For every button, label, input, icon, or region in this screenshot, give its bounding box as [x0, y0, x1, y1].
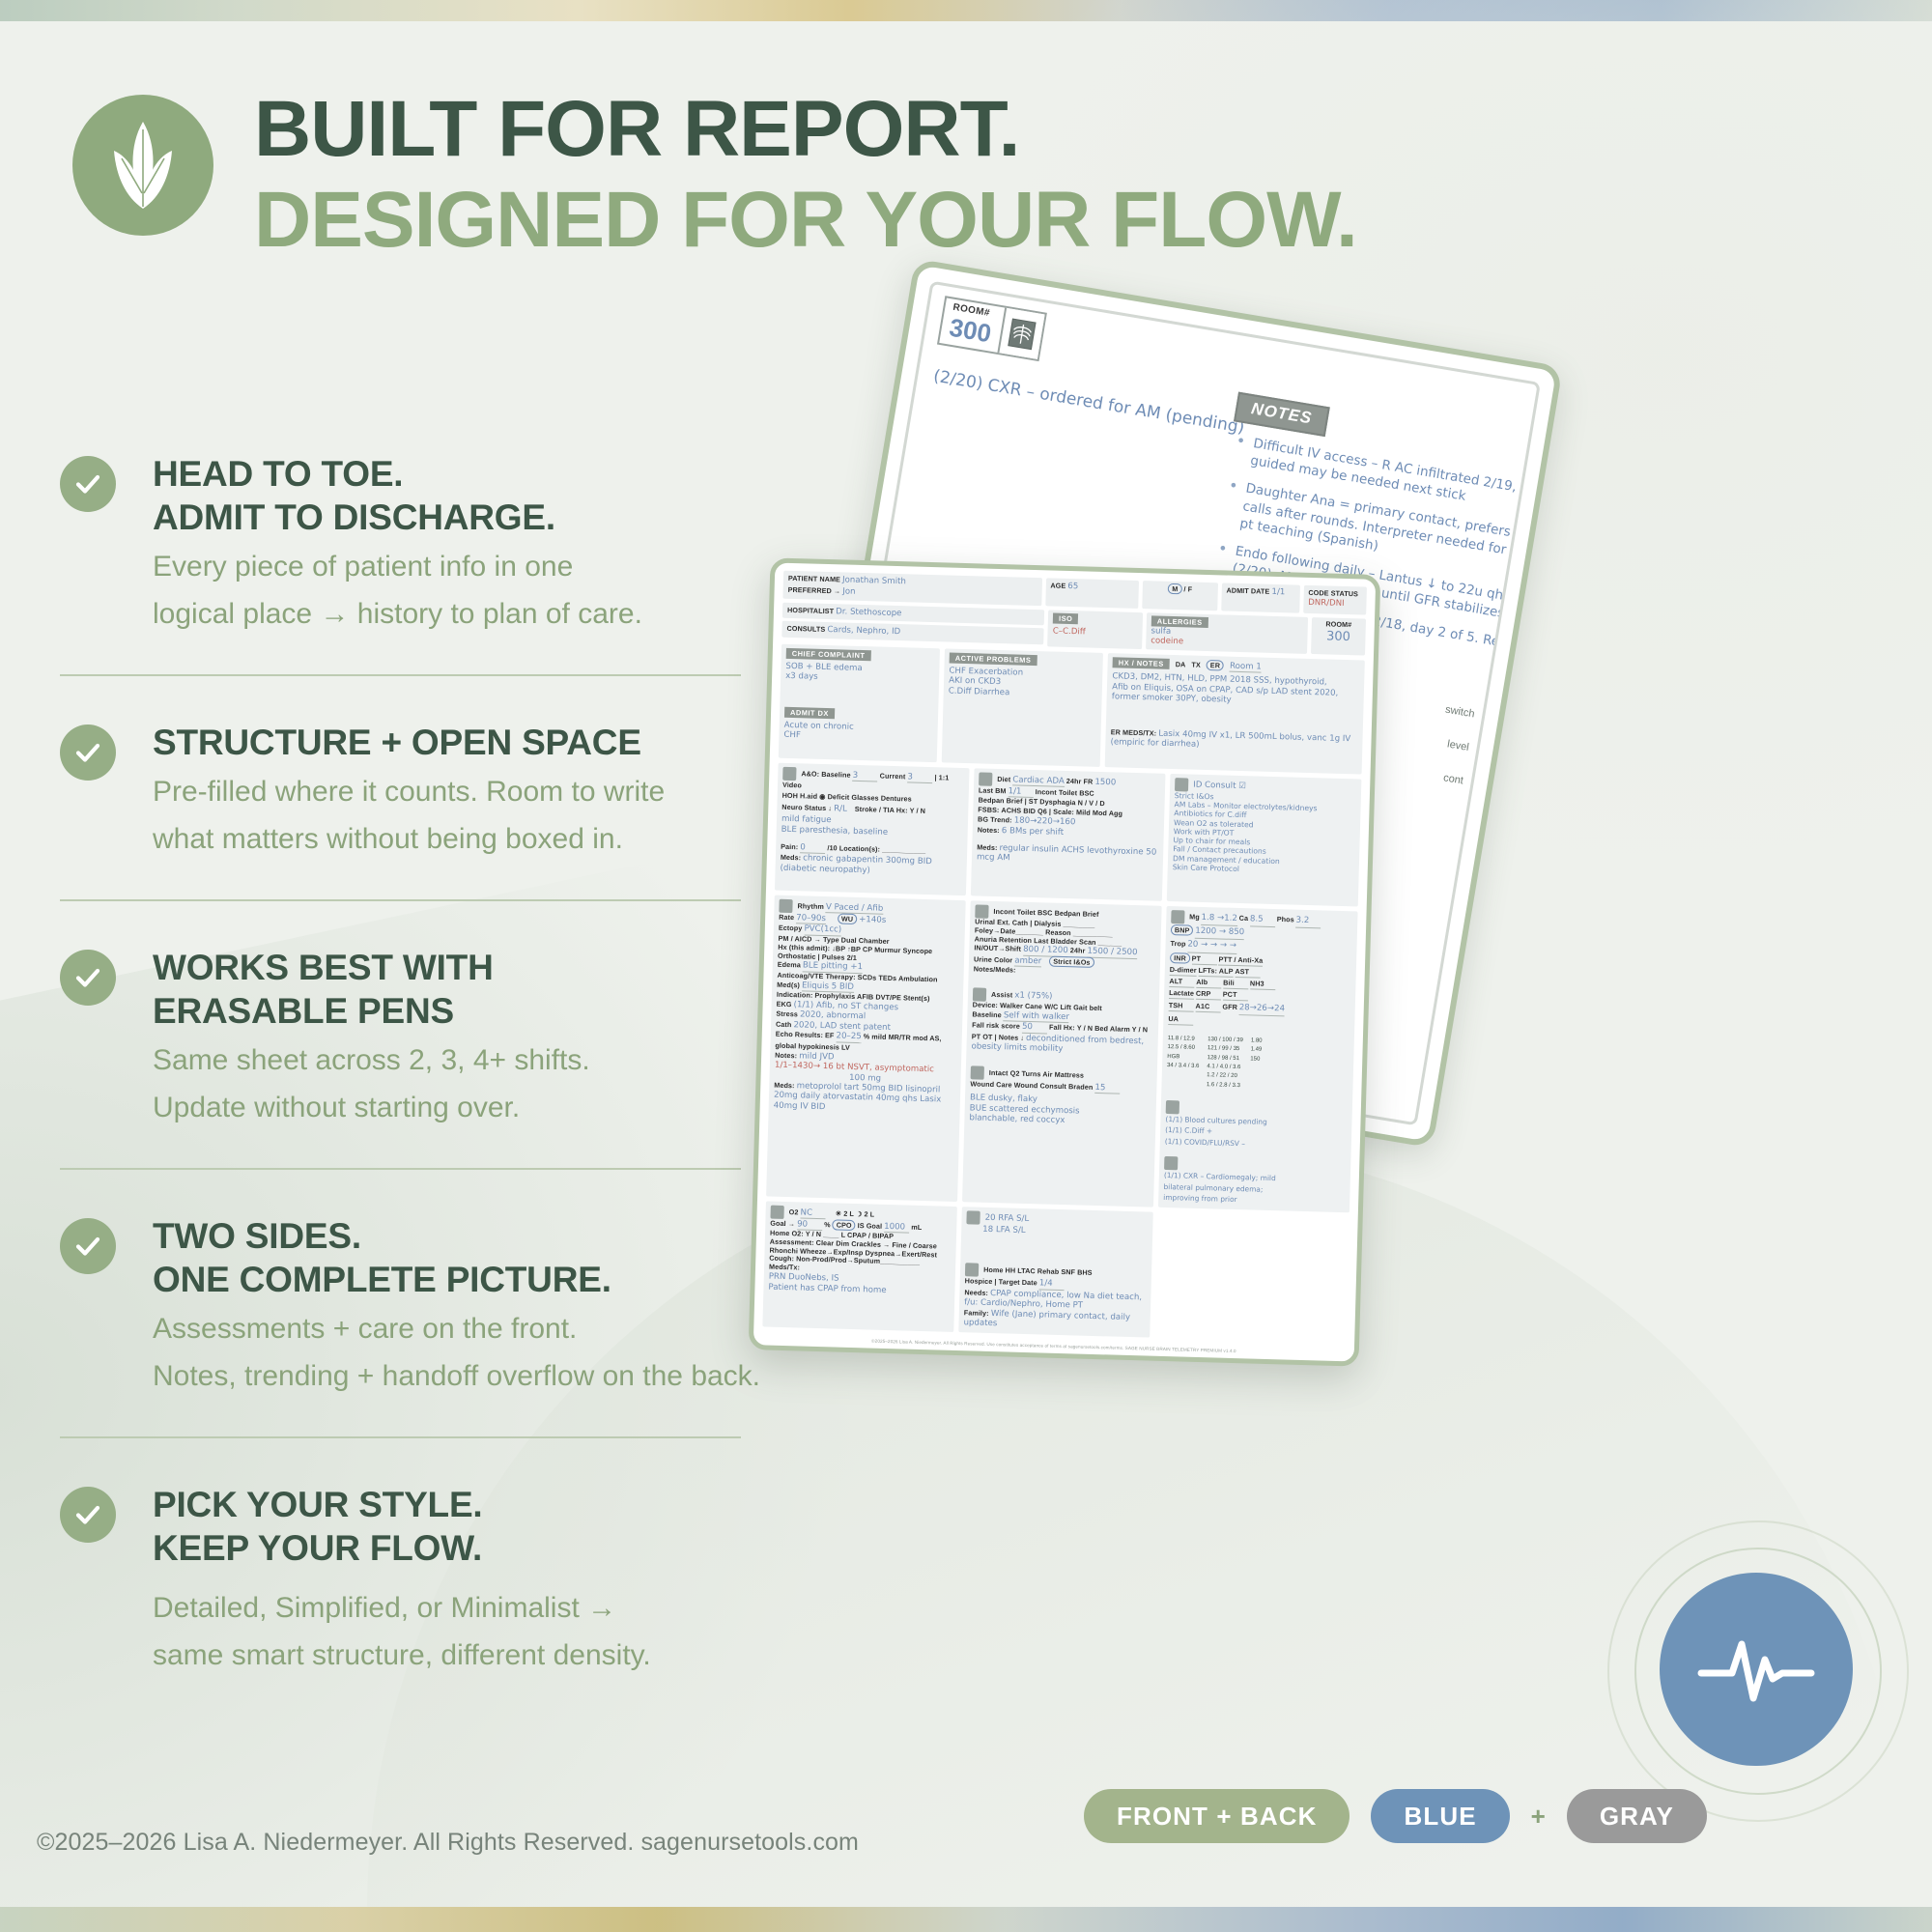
allergies-cell[interactable]: ALLERGIES sulfa codeine: [1146, 612, 1308, 654]
fall-risk-value[interactable]: 50: [1022, 1022, 1047, 1034]
feature-divider: [60, 674, 741, 676]
bottom-gradient-band: [0, 1907, 1932, 1932]
dispo-needs-label: Needs:: [964, 1288, 988, 1297]
inout-24-value[interactable]: 1500 / 2500: [1087, 947, 1137, 959]
cardiac-meds-label: Med(s): [777, 980, 800, 989]
ekg-label: EKG: [777, 1000, 792, 1009]
sex-options: / F: [1183, 584, 1192, 593]
flask-icon: [1171, 910, 1184, 923]
rate-value[interactable]: 70–90s: [796, 913, 826, 924]
feature-divider: [60, 1436, 741, 1438]
hospice-label[interactable]: Hospice | Target Date: [965, 1276, 1037, 1287]
fr-value: 1500: [1094, 778, 1116, 788]
wu-value: +140s: [859, 915, 886, 925]
tsh-label[interactable]: TSH: [1169, 1000, 1194, 1012]
labs-panel[interactable]: Mg 1.8 →1.2 Ca 8.5 Phos 3.2 BNP 1200 → 8…: [1158, 906, 1358, 1212]
patient-name-value: Jonathan Smith: [842, 575, 906, 586]
plan-of-care-panel[interactable]: ID Consult ☑ Strict I&Os AM Labs – Monit…: [1167, 774, 1362, 906]
admit-dx-label: ADMIT DX: [784, 707, 835, 719]
incont-options[interactable]: Incont Toilet BSC: [1036, 787, 1094, 798]
echo-label: Echo Results: EF: [776, 1030, 835, 1040]
pt-ot-line[interactable]: PT OT | Notes ↓: [972, 1032, 1024, 1042]
pain-scale-label: /10 Location(s): ___________: [827, 843, 925, 855]
back-sheet-right-labels: switch level cont: [1432, 694, 1478, 799]
dispo-needs-value: CPAP compliance, low Na diet teach, f/u:…: [964, 1289, 1142, 1311]
notes-title: NOTES: [1234, 392, 1329, 437]
skin-icon: [971, 1065, 984, 1079]
consults-label: CONSULTS: [786, 624, 825, 634]
problems-history-row: CHIEF COMPLAINT SOB + BLE edema x3 days …: [779, 644, 1365, 775]
feature-title-line1: PICK YOUR STYLE.: [153, 1483, 929, 1526]
code-status-label: CODE STATUS: [1308, 588, 1358, 598]
feature-title-line1: HEAD TO TOE.: [153, 452, 929, 496]
alb-label[interactable]: Alb: [1196, 977, 1221, 989]
assessment-row-2: Rhythm V Paced / Afib Rate 70–90s WU +14…: [766, 895, 1357, 1212]
iv-lines-panel[interactable]: 20 RFA S/L 18 LFA S/L Home HH LTAC Rehab…: [958, 1207, 1153, 1337]
rate-label: Rate: [779, 913, 794, 922]
sex-cell[interactable]: M / F: [1142, 581, 1218, 611]
fishbone-right-2: 1.49: [1250, 1046, 1262, 1056]
diet-value[interactable]: Cardiac ADA: [1012, 775, 1065, 787]
urine-color-value[interactable]: amber: [1014, 955, 1041, 967]
page-title-line2: DESIGNED FOR YOUR FLOW.: [254, 180, 1357, 261]
feature-divider: [60, 1168, 741, 1170]
rhythm-label: Rhythm: [797, 901, 824, 911]
fall-risk-label: Fall risk score: [972, 1021, 1020, 1031]
active-problems-label: ACTIVE PROBLEMS: [950, 653, 1037, 667]
stress-label: Stress: [776, 1009, 798, 1019]
ast-label[interactable]: AST: [1235, 966, 1260, 979]
cardiac-panel[interactable]: Rhythm V Paced / Afib Rate 70–90s WU +14…: [766, 895, 966, 1202]
fishbone-center: 130 / 100 / 39 121 / 99 / 35 128 / 98 / …: [1207, 1036, 1243, 1091]
feature-item-pick-your-style: PICK YOUR STYLE. KEEP YOUR FLOW. Detaile…: [60, 1483, 929, 1675]
code-status-cell[interactable]: CODE STATUS DNR/DNI: [1303, 585, 1367, 615]
iso-label: ISO: [1053, 613, 1079, 625]
cardiac-meds2-value: metoprolol tart 50mg BID lisinopril 20mg…: [774, 1081, 942, 1112]
hx-chip-da[interactable]: DA: [1176, 660, 1186, 668]
neuro-status-label: Neuro Status ↓: [781, 802, 832, 811]
skin-status[interactable]: Intact Q2 Turns Air Mattress: [989, 1068, 1084, 1080]
patient-name-cell[interactable]: PATIENT NAME Jonathan Smith PREFERRED → …: [782, 571, 1041, 606]
chief-complaint-panel[interactable]: CHIEF COMPLAINT SOB + BLE edema x3 days …: [779, 644, 940, 763]
lfts-label[interactable]: LFTs: ALP: [1198, 965, 1233, 978]
mg-label: Mg: [1189, 912, 1200, 921]
trop-label: Trop: [1170, 939, 1185, 948]
age-value: 65: [1067, 582, 1078, 591]
iv-line-1: 20 RFA S/L: [985, 1212, 1030, 1223]
hx-notes-label: HX / NOTES: [1113, 657, 1170, 669]
phos-label: Phos: [1277, 915, 1294, 923]
bili-label[interactable]: Bili: [1223, 978, 1248, 990]
pill-blue[interactable]: BLUE: [1371, 1789, 1509, 1843]
gi-meds-label: Meds:: [977, 842, 998, 852]
admit-date-value: 1/1: [1271, 587, 1285, 597]
home-icon: [965, 1263, 979, 1276]
bnp-label: BNP: [1171, 924, 1194, 936]
pill-plus-separator: +: [1531, 1802, 1546, 1832]
microscope-icon: [1166, 1100, 1179, 1114]
fishbone-right-3: 150: [1250, 1055, 1262, 1065]
fishbone-right: 1.80 1.49 150: [1249, 1037, 1262, 1091]
hospitalist-consults-group: HOSPITALIST Dr. Stethoscope CONSULTS Car…: [781, 603, 1044, 647]
room-number: 300: [948, 315, 993, 347]
neuro-meds-label: Meds:: [781, 853, 802, 863]
active-problems-panel[interactable]: ACTIVE PROBLEMS CHF Exacerbation AKI on …: [942, 648, 1103, 767]
mobility-baseline-label: Baseline: [972, 1009, 1002, 1019]
clipboard-icon: [1175, 778, 1188, 791]
iv-icon: [966, 1210, 980, 1224]
heart-icon: [779, 899, 792, 913]
fsbs-label: FSBS:: [978, 806, 999, 815]
feature-divider: [60, 899, 741, 901]
bnp-value[interactable]: 1200 → 850: [1195, 925, 1244, 941]
gu-line-1[interactable]: Incont Toilet BSC Bedpan Brief: [993, 907, 1098, 919]
neuro-meds-value: chronic gabapentin 300mg BID (diabetic n…: [780, 854, 931, 875]
ua-label[interactable]: UA: [1168, 1013, 1193, 1026]
consults-cell[interactable]: CONSULTS Cards, Nephro, ID: [781, 621, 1044, 644]
edema-label: Edema: [778, 960, 801, 970]
ca-label: Ca: [1239, 914, 1249, 923]
fishbone-chem-mid: 121 / 99 / 35: [1207, 1045, 1243, 1055]
ao-current-label: Current: [880, 772, 906, 781]
heartbeat-pulse-icon: [1660, 1573, 1853, 1766]
gfr-label: GFR: [1222, 1002, 1237, 1010]
xray-film-icon: [1164, 1156, 1178, 1170]
sex-selected: M: [1168, 583, 1181, 594]
ca-value[interactable]: 8.5: [1250, 913, 1275, 927]
neuro-rl: R/L: [834, 804, 847, 813]
preferred-name-label: PREFERRED →: [788, 585, 841, 596]
hx-chip-tx[interactable]: TX: [1191, 661, 1201, 669]
nh3-label[interactable]: NH3: [1250, 978, 1275, 990]
neuro-panel[interactable]: A&O: Baseline 3 Current 3 | 1:1 Video HO…: [775, 763, 970, 895]
fishbone-values-2: 1.2 / 22 / 20: [1207, 1071, 1242, 1081]
last-bm-label: Last BM: [979, 785, 1007, 795]
room-cell[interactable]: ROOM# 300: [1311, 617, 1366, 656]
feature-title-line2: KEEP YOUR FLOW.: [153, 1526, 929, 1570]
pt-label[interactable]: PT: [1192, 952, 1217, 965]
check-icon: [60, 724, 116, 781]
feature-title-line2: ADMIT TO DISCHARGE.: [153, 496, 929, 539]
is-goal-unit: mL: [911, 1222, 922, 1231]
o2-goal-unit: %: [824, 1220, 831, 1229]
fall-hx[interactable]: Fall Hx: Y / N: [1049, 1023, 1093, 1033]
vitals-fishbone-icon: 11.8 / 12.9 12.5 / 8.60 HGB 34 / 3.4 / 3…: [1166, 1035, 1349, 1094]
check-icon: [60, 456, 116, 512]
plan-title: ID Consult ☑: [1193, 781, 1246, 792]
gfr-value[interactable]: 28→26→24: [1239, 1002, 1286, 1017]
patient-name-label: PATIENT NAME: [788, 574, 840, 584]
assessment-row-3: O2 NC ☀ 2 L ☽ 2 L Goal → 90 % CPO IS Goa…: [762, 1201, 1349, 1343]
gi-endo-panel[interactable]: Diet Cardiac ADA 24hr FR 1500 Last BM 1/…: [971, 768, 1166, 900]
ptt-label[interactable]: PTT / Anti-Xa: [1218, 953, 1263, 966]
is-goal-label: IS Goal: [858, 1221, 883, 1231]
cardiac-meds2-label: Meds:: [774, 1081, 795, 1091]
fishbone-cbc: 34 / 3.4 / 3.6: [1167, 1062, 1200, 1071]
cath-label: Cath: [776, 1019, 792, 1028]
gu-mobility-skin-column[interactable]: Incont Toilet BSC Bedpan Brief Urinal Ex…: [962, 900, 1162, 1207]
admit-date-cell[interactable]: ADMIT DATE 1/1: [1221, 582, 1300, 612]
room-number-box: ROOM# 300: [937, 296, 1047, 361]
lungs-icon: [770, 1205, 783, 1218]
feature-body-line2: same smart structure, different density.: [153, 1636, 929, 1675]
cxr-note: (2/20) CXR – ordered for AM (pending): [932, 366, 1246, 438]
iso-cell[interactable]: ISO C–C.Diff: [1047, 610, 1143, 649]
inr-label: INR: [1170, 952, 1190, 964]
check-icon: [60, 1487, 116, 1543]
ddimer-label[interactable]: D-dimer: [1170, 964, 1197, 977]
assessment-row-1: A&O: Baseline 3 Current 3 | 1:1 Video HO…: [775, 763, 1361, 907]
rhythm-value[interactable]: V Paced / Afib: [826, 902, 884, 915]
respiratory-panel[interactable]: O2 NC ☀ 2 L ☽ 2 L Goal → 90 % CPO IS Goa…: [762, 1201, 957, 1331]
family-value: Wife (Jane) primary contact, daily updat…: [963, 1309, 1130, 1329]
diet-label: Diet: [997, 775, 1010, 783]
fr-label: 24hr FR: [1066, 777, 1094, 786]
fishbone-bp: 12.5 / 8.60: [1167, 1043, 1200, 1053]
fishbone-left: 11.8 / 12.9 12.5 / 8.60 HGB 34 / 3.4 / 3…: [1166, 1035, 1200, 1090]
pct-label[interactable]: PCT: [1223, 989, 1248, 1002]
gi-meds-value: regular insulin ACHS levothyroxine 50 mc…: [977, 843, 1157, 864]
stroke-tia-label[interactable]: Stroke / TIA Hx: Y / N: [855, 804, 925, 814]
ao-baseline-value[interactable]: 3: [852, 771, 877, 782]
a1c-label[interactable]: A1C: [1195, 1000, 1220, 1012]
cardiac-notes-label: Notes:: [775, 1050, 797, 1060]
mg-value[interactable]: 1.8 →1.2: [1201, 912, 1237, 926]
gi-notes-label: Notes:: [978, 825, 1000, 835]
target-date-value[interactable]: 1/4: [1039, 1279, 1065, 1291]
feature-body-line2: Notes, trending + handoff overflow on th…: [153, 1357, 929, 1396]
hx-room-link[interactable]: Room 1: [1230, 662, 1262, 673]
alt-label[interactable]: ALT: [1169, 976, 1194, 988]
o2-day-night-icons: ☀ 2 L ☽ 2 L: [836, 1208, 875, 1218]
bed-alarm[interactable]: Bed Alarm Y / N: [1094, 1024, 1148, 1035]
braden-value[interactable]: 15: [1094, 1083, 1120, 1094]
assist-label: Assist: [991, 990, 1012, 1000]
family-label: Family:: [964, 1308, 989, 1318]
trop-value[interactable]: 20 → → → →: [1187, 939, 1236, 954]
age-cell[interactable]: AGE 65: [1045, 578, 1139, 609]
strict-io-chip[interactable]: Strict I&Os: [1049, 955, 1094, 967]
chief-complaint-label: CHIEF COMPLAINT: [786, 648, 871, 661]
echo-ef-value[interactable]: 20–25: [836, 1032, 861, 1043]
iso-value: C–C.Diff: [1053, 627, 1138, 639]
style-option-pills: FRONT + BACK BLUE + GRAY: [1084, 1789, 1707, 1843]
inout-24-label: 24hr: [1070, 946, 1086, 954]
back-label-cont: cont: [1432, 760, 1466, 799]
age-label: AGE: [1050, 581, 1065, 589]
gi-notes-value: 6 BMs per shift: [1002, 826, 1065, 838]
code-status-value: DNR/DNI: [1308, 598, 1345, 609]
ectopy-label: Ectopy: [779, 923, 803, 933]
nursing-sheet-front[interactable]: PATIENT NAME Jonathan Smith PREFERRED → …: [749, 557, 1381, 1366]
chest-xray-icon: [998, 308, 1045, 359]
fishbone-right-1: 1.80: [1251, 1037, 1263, 1046]
urine-color-label: Urine Color: [974, 954, 1012, 964]
check-icon: [60, 1218, 116, 1274]
hx-notes-panel[interactable]: HX / NOTES DA TX ER Room 1 CKD3, DM2, HT…: [1105, 653, 1365, 774]
fishbone-values-3: 1.6 / 2.8 / 3.3: [1207, 1081, 1242, 1091]
cardiac-notes-value: mild JVD: [799, 1051, 835, 1062]
inout-label: IN/OUT→Shift: [974, 944, 1021, 953]
dispo-options[interactable]: Home HH LTAC Rehab SNF BHS: [983, 1265, 1093, 1277]
brain-icon: [782, 767, 796, 781]
hx-chip-er[interactable]: ER: [1207, 660, 1224, 671]
crp-label[interactable]: CRP: [1196, 988, 1221, 1001]
cpo-chip[interactable]: CPO: [833, 1219, 856, 1231]
phos-value[interactable]: 3.2: [1295, 914, 1321, 928]
lactate-label[interactable]: Lactate: [1169, 987, 1194, 1000]
feature-body-line1: Detailed, Simplified, or Minimalist →: [153, 1589, 929, 1628]
o2-goal-label: Goal →: [770, 1218, 795, 1228]
admit-date-label: ADMIT DATE: [1226, 586, 1269, 596]
room-value: 300: [1316, 629, 1360, 645]
bg-trend-label: BG Trend:: [978, 814, 1012, 824]
stomach-icon: [979, 772, 992, 785]
back-label-level: level: [1436, 726, 1471, 765]
pill-gray[interactable]: GRAY: [1567, 1789, 1707, 1843]
check-icon: [60, 950, 116, 1006]
spacer-panel: [1154, 1211, 1350, 1342]
hospitalist-value: Dr. Stethoscope: [836, 607, 901, 618]
back-label-switch: switch: [1442, 694, 1477, 732]
pill-front-back[interactable]: FRONT + BACK: [1084, 1789, 1350, 1843]
o2-label: O2: [789, 1207, 799, 1216]
page-title-line1: BUILT FOR REPORT.: [254, 89, 1357, 170]
leaf-logo-icon: [72, 95, 213, 236]
consults-value: Cards, Nephro, ID: [827, 625, 900, 637]
ao-label: A&O: Baseline: [801, 769, 850, 779]
ao-current-value[interactable]: 3: [907, 772, 932, 783]
wu-label[interactable]: WU: [838, 913, 857, 924]
copyright-text: ©2025–2026 Lisa A. Niedermeyer. All Righ…: [37, 1829, 859, 1857]
pain-value[interactable]: 0: [800, 842, 825, 854]
pain-label: Pain:: [781, 842, 798, 852]
assist-value: x1 (75%): [1014, 991, 1052, 1002]
preferred-name-value: Jon: [842, 587, 856, 597]
hospitalist-label: HOSPITALIST: [787, 606, 834, 615]
infographic-page: BUILT FOR REPORT. DESIGNED FOR YOUR FLOW…: [0, 0, 1932, 1932]
er-meds-label: ER MEDS/TX:: [1111, 727, 1157, 737]
page-header: BUILT FOR REPORT. DESIGNED FOR YOUR FLOW…: [72, 89, 1357, 260]
o2-value[interactable]: NC: [800, 1207, 825, 1219]
